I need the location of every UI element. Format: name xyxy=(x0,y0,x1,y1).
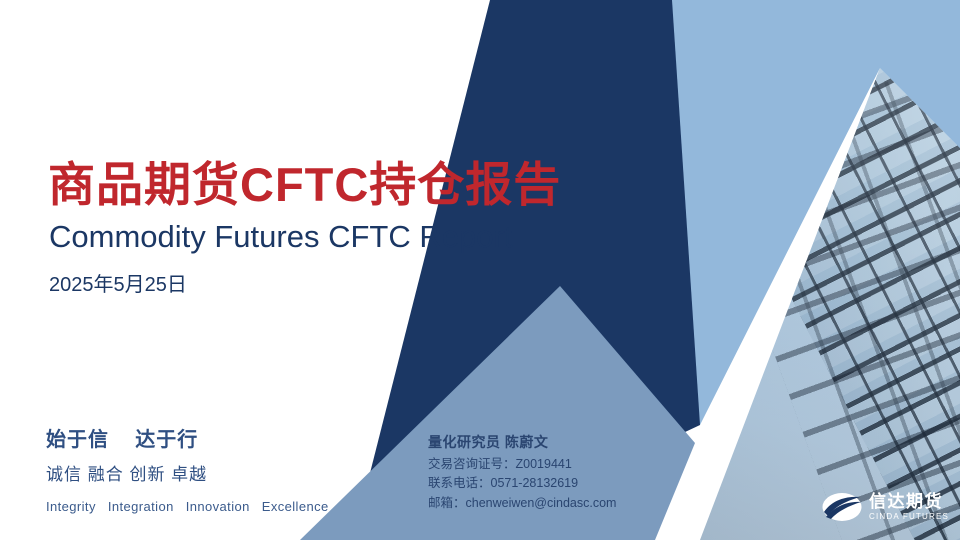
logo-wordmark: 信达期货 CINDA FUTURES xyxy=(869,493,949,521)
slogan-values-chinese: 诚信 融合 创新 卓越 xyxy=(46,466,329,483)
company-logo: 信达期货 CINDA FUTURES xyxy=(822,492,949,522)
wave-swoosh-icon xyxy=(822,492,862,522)
analyst-phone: 联系电话：0571-28132619 xyxy=(428,474,616,494)
page-title-english: Commodity Futures CFTC Report xyxy=(49,219,512,255)
analyst-license-number: 交易咨询证号：Z0019441 xyxy=(428,455,616,475)
title-slide: 商品期货CFTC持仓报告 Commodity Futures CFTC Repo… xyxy=(0,0,960,540)
analyst-name: 量化研究员 陈蔚文 xyxy=(428,433,616,455)
company-slogan: 始于信 达于行 诚信 融合 创新 卓越 Integrity Integratio… xyxy=(46,430,329,513)
analyst-contact-block: 量化研究员 陈蔚文 交易咨询证号：Z0019441 联系电话：0571-2813… xyxy=(428,433,616,513)
report-date: 2025年5月25日 xyxy=(49,268,187,297)
logo-name-english: CINDA FUTURES xyxy=(869,513,949,521)
logo-name-chinese: 信达期货 xyxy=(869,492,943,511)
page-title-chinese: 商品期货CFTC持仓报告 xyxy=(48,146,561,215)
slogan-primary: 始于信 达于行 xyxy=(46,430,329,450)
analyst-email: 邮箱：chenweiwen@cindasc.com xyxy=(428,494,616,514)
slogan-values-english: Integrity Integration Innovation Excelle… xyxy=(46,500,329,513)
